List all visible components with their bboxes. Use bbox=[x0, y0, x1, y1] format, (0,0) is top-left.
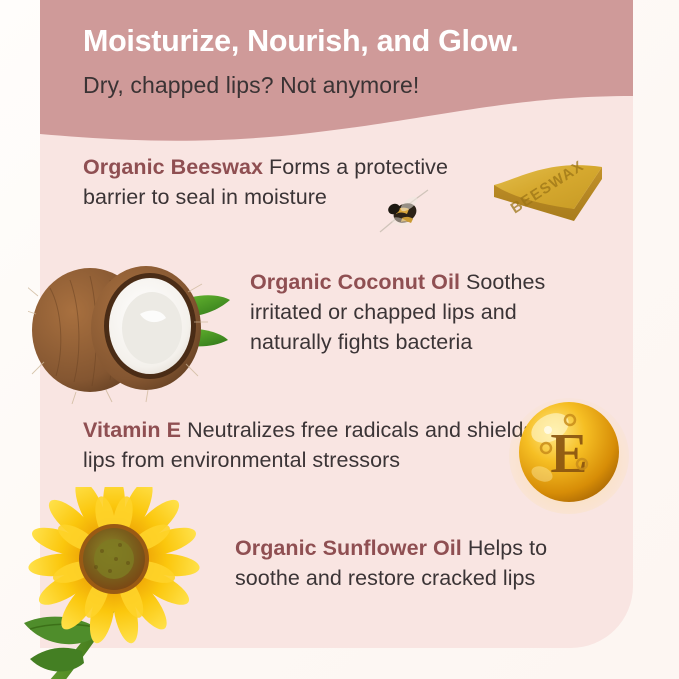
ingredient-card: Moisturize, Nourish, and Glow. Dry, chap… bbox=[40, 0, 633, 648]
ingredient-coconut: Organic Coconut Oil Soothes irritated or… bbox=[250, 267, 595, 357]
ingredient-name-sunflower: Organic Sunflower Oil bbox=[235, 536, 462, 560]
page-subtitle: Dry, chapped lips? Not anymore! bbox=[83, 72, 419, 99]
ingredient-name-coconut: Organic Coconut Oil bbox=[250, 270, 460, 294]
ingredient-name-vitamin-e: Vitamin E bbox=[83, 418, 181, 442]
ingredient-beeswax: Organic Beeswax Forms a protective barri… bbox=[83, 152, 503, 212]
ingredient-name-beeswax: Organic Beeswax bbox=[83, 155, 263, 179]
infographic-canvas: Moisturize, Nourish, and Glow. Dry, chap… bbox=[0, 0, 679, 679]
page-title: Moisturize, Nourish, and Glow. bbox=[83, 24, 519, 59]
ingredient-sunflower: Organic Sunflower Oil Helps to soothe an… bbox=[235, 533, 595, 593]
ingredient-vitamin-e: Vitamin E Neutralizes free radicals and … bbox=[83, 415, 553, 475]
